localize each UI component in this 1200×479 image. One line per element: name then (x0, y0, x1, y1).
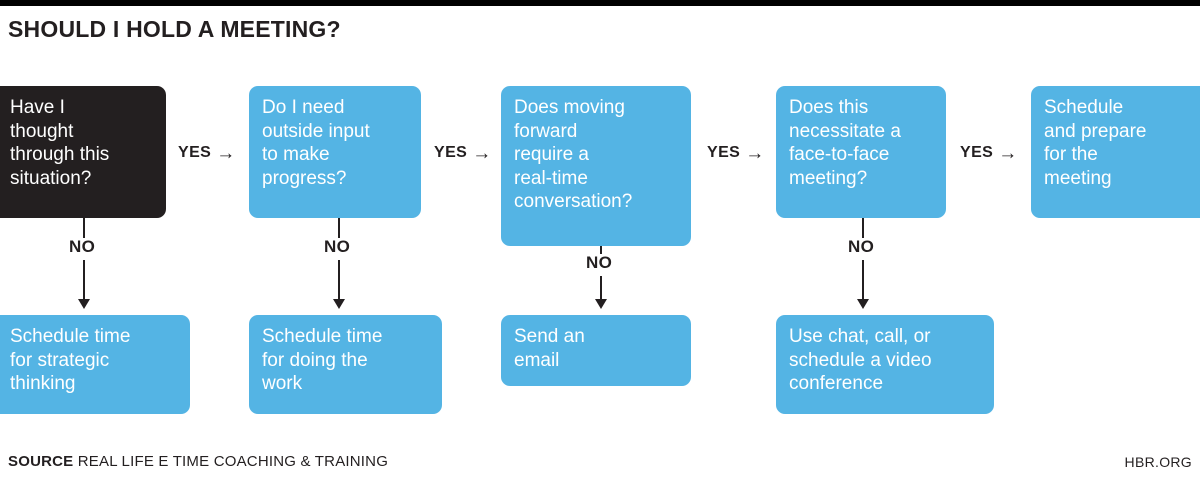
flow-node-a4[interactable]: Use chat, call, or schedule a video conf… (776, 315, 994, 414)
node-line: situation? (10, 167, 154, 191)
node-line: for strategic (10, 349, 178, 373)
edge-label-no: NO (583, 254, 615, 271)
edge-yes-q4-q5: YES → (960, 140, 1018, 166)
arrow-down-icon (857, 299, 869, 309)
edge-no-q2-a2: NO (294, 218, 384, 315)
source-value: REAL LIFE E TIME COACHING & TRAINING (78, 453, 388, 470)
edge-label-yes: YES (434, 144, 467, 162)
edge-no-q1-a1: NO (39, 218, 129, 315)
edge-label-yes: YES (178, 144, 211, 162)
flow-node-q3[interactable]: Does moving forward require a real-time … (501, 86, 691, 246)
edge-label-no: NO (845, 238, 877, 255)
edge-no-q4-a4: NO (818, 218, 908, 315)
flow-node-q4[interactable]: Does this necessitate a face-to-face mee… (776, 86, 946, 218)
connector-stem (83, 260, 85, 302)
node-line: for the (1044, 143, 1188, 167)
flow-node-q1[interactable]: Have I thought through this situation? (0, 86, 166, 218)
edge-yes-q2-q3: YES → (434, 140, 492, 166)
arrow-right-icon: → (472, 144, 491, 163)
arrow-down-icon (333, 299, 345, 309)
arrow-right-icon: → (998, 144, 1017, 163)
connector-stem (862, 260, 864, 302)
connector-stem (338, 260, 340, 302)
node-line: outside input (262, 120, 409, 144)
source-label: SOURCE (8, 453, 73, 470)
arrow-down-icon (78, 299, 90, 309)
node-line: progress? (262, 167, 409, 191)
edge-yes-q3-q4: YES → (707, 140, 765, 166)
node-line: Does moving (514, 96, 679, 120)
node-line: require a (514, 143, 679, 167)
edge-label-no: NO (66, 238, 98, 255)
node-line: Send an (514, 325, 679, 349)
node-line: email (514, 349, 679, 373)
arrow-right-icon: → (216, 144, 235, 163)
edge-label-yes: YES (707, 144, 740, 162)
edge-no-q3-a3: NO (556, 246, 646, 315)
flow-node-a1[interactable]: Schedule time for strategic thinking (0, 315, 190, 414)
flow-node-a2[interactable]: Schedule time for doing the work (249, 315, 442, 414)
node-line: thinking (10, 372, 178, 396)
flow-node-q5[interactable]: Schedule and prepare for the meeting (1031, 86, 1200, 218)
node-line: schedule a video (789, 349, 982, 373)
node-line: conversation? (514, 190, 679, 214)
node-line: Use chat, call, or (789, 325, 982, 349)
node-line: Schedule time (262, 325, 430, 349)
arrow-right-icon: → (745, 144, 764, 163)
node-line: Schedule time (10, 325, 178, 349)
edge-label-no: NO (321, 238, 353, 255)
arrow-down-icon (595, 299, 607, 309)
node-line: through this (10, 143, 154, 167)
flow-node-a3[interactable]: Send an email (501, 315, 691, 386)
node-line: to make (262, 143, 409, 167)
node-line: for doing the (262, 349, 430, 373)
node-line: conference (789, 372, 982, 396)
node-line: Schedule (1044, 96, 1188, 120)
flowchart-canvas: Have I thought through this situation? D… (0, 0, 1200, 479)
node-line: Have I (10, 96, 154, 120)
node-line: forward (514, 120, 679, 144)
node-line: Do I need (262, 96, 409, 120)
node-line: real-time (514, 167, 679, 191)
edge-label-yes: YES (960, 144, 993, 162)
flow-node-q2[interactable]: Do I need outside input to make progress… (249, 86, 421, 218)
node-line: work (262, 372, 430, 396)
site-credit: HBR.ORG (1125, 454, 1192, 470)
edge-yes-q1-q2: YES → (178, 140, 236, 166)
node-line: meeting (1044, 167, 1188, 191)
node-line: thought (10, 120, 154, 144)
node-line: necessitate a (789, 120, 934, 144)
node-line: meeting? (789, 167, 934, 191)
node-line: Does this (789, 96, 934, 120)
node-line: and prepare (1044, 120, 1188, 144)
node-line: face-to-face (789, 143, 934, 167)
source-credit: SOURCE REAL LIFE E TIME COACHING & TRAIN… (8, 453, 388, 470)
